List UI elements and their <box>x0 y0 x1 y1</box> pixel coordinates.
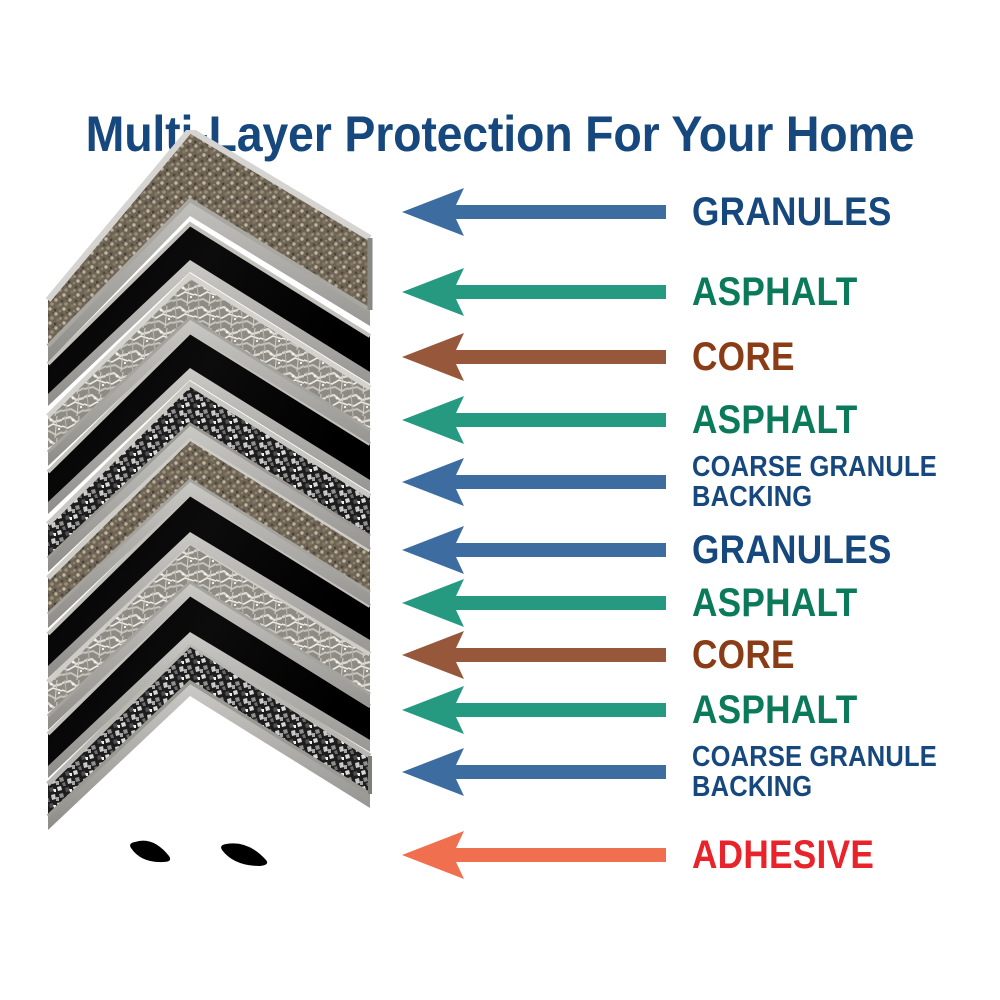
layer-stack <box>48 130 370 866</box>
left-arrow-icon <box>400 524 668 576</box>
left-arrow-icon <box>400 829 668 881</box>
callout-label-granules-2: GRANULES <box>692 530 892 570</box>
callout-label-line: BACKING <box>692 772 937 802</box>
callout-label-core-2: CORE <box>692 635 795 675</box>
infographic-canvas: Multi-Layer Protection For Your Home <box>0 0 1000 1000</box>
left-arrow-icon <box>400 629 668 681</box>
callout-label-asphalt-4: ASPHALT <box>692 690 857 730</box>
callout-label-asphalt-1: ASPHALT <box>692 272 857 312</box>
callout-label-line: COARSE GRANULE <box>692 452 937 482</box>
shingle-layer-illustration <box>40 130 400 890</box>
left-arrow-icon <box>400 266 668 318</box>
callout-label-adhesive: ADHESIVE <box>692 835 874 875</box>
layer-adhesive-strips <box>130 841 267 866</box>
left-arrow-icon <box>400 746 668 798</box>
callout-label-coarse-granule-backing-1: COARSE GRANULEBACKING <box>692 452 937 512</box>
left-arrow-icon <box>400 684 668 736</box>
callout-label-granules-top: GRANULES <box>692 192 892 232</box>
left-arrow-icon <box>400 577 668 629</box>
left-arrow-icon <box>400 186 668 238</box>
callout-label-coarse-granule-backing-2: COARSE GRANULEBACKING <box>692 742 937 802</box>
left-arrow-icon <box>400 394 668 446</box>
callout-label-asphalt-2: ASPHALT <box>692 400 857 440</box>
callout-label-line: COARSE GRANULE <box>692 742 937 772</box>
left-arrow-icon <box>400 331 668 383</box>
callout-label-line: BACKING <box>692 482 937 512</box>
left-arrow-icon <box>400 456 668 508</box>
callout-label-asphalt-3: ASPHALT <box>692 583 857 623</box>
callout-label-core-1: CORE <box>692 337 795 377</box>
